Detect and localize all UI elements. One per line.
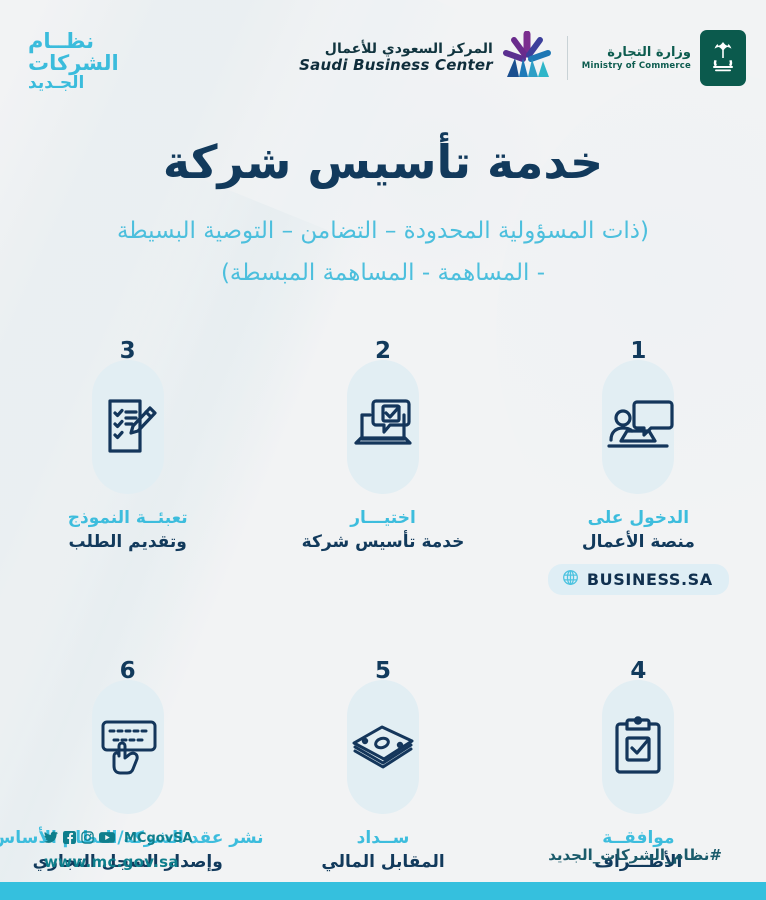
sbc-starburst-icon — [501, 31, 553, 85]
step-label-secondary: خدمة تأسيس شركة — [302, 530, 465, 554]
keyboard-hand-click-icon — [92, 715, 164, 779]
ministry-of-commerce-logo: وزارة التجارة Ministry of Commerce — [582, 30, 746, 86]
step-number: 1 — [630, 338, 646, 364]
step-label-primary: تعبئــة النموذج — [68, 506, 188, 530]
footer-social: MCgovSA www.mc.gov.sa — [44, 828, 193, 872]
step-label: تعبئــة النموذج وتقديم الطلب — [68, 506, 188, 554]
header-logos: المركز السعودي للأعمال Saudi Business Ce… — [299, 30, 746, 86]
steps-row-top: 1 الدخول على منصة الأعمال — [0, 360, 766, 595]
steps-grid: 1 الدخول على منصة الأعمال — [0, 360, 766, 875]
moc-arabic-name: وزارة التجارة — [582, 45, 691, 61]
step-number: 4 — [630, 658, 646, 684]
step-number: 6 — [120, 658, 136, 684]
hashtag: #نظام_الشركات_الجديد — [548, 846, 722, 864]
step-card-2[interactable]: 2 اختيـــار خدمة تأسيس شركة — [265, 360, 501, 554]
title-block: خدمة تأسيس شركة (ذات المسؤولية المحدودة … — [0, 134, 766, 295]
youtube-icon[interactable] — [99, 828, 115, 850]
saudi-emblem-icon — [700, 30, 746, 86]
step-label: الدخول على منصة الأعمال — [582, 506, 695, 554]
sbc-english-name: Saudi Business Center — [299, 57, 493, 74]
sbc-arabic-name: المركز السعودي للأعمال — [299, 41, 493, 57]
step-label-primary: اختيـــار — [302, 506, 465, 530]
instagram-icon[interactable] — [81, 828, 94, 850]
logo-line-1: نظــام — [28, 31, 94, 52]
social-handle: MCgovSA — [124, 830, 193, 848]
footer: MCgovSA www.mc.gov.sa #نظام_الشركات_الجد… — [0, 830, 766, 900]
clipboard-checkbox-icon — [602, 715, 674, 779]
business-sa-text: BUSINESS.SA — [587, 570, 713, 589]
step-label-secondary: وتقديم الطلب — [68, 530, 188, 554]
step-label-secondary: منصة الأعمال — [582, 530, 695, 554]
website-url[interactable]: www.mc.gov.sa — [44, 852, 193, 872]
header-divider — [567, 36, 568, 80]
subtitle-line-2: - المساهمة - المساهمة المبسطة) — [0, 252, 766, 295]
facebook-icon[interactable] — [63, 828, 76, 850]
step-pill: 1 — [602, 360, 674, 494]
step-pill: 3 — [92, 360, 164, 494]
social-links[interactable]: MCgovSA — [44, 828, 193, 850]
moc-english-name: Ministry of Commerce — [582, 61, 691, 71]
infographic-poster: نظــام الشركات الجـديد المركز السعودي لل… — [0, 0, 766, 900]
twitter-icon[interactable] — [44, 828, 58, 850]
bottom-accent-bar — [0, 882, 766, 900]
business-sa-badge[interactable]: BUSINESS.SA — [548, 564, 729, 595]
step-card-1[interactable]: 1 الدخول على منصة الأعمال — [520, 360, 756, 595]
step-number: 5 — [375, 658, 391, 684]
header: نظــام الشركات الجـديد المركز السعودي لل… — [0, 0, 766, 118]
checklist-pencil-icon — [92, 395, 164, 459]
laptop-checkbox-bubble-icon — [347, 395, 419, 459]
step-card-3[interactable]: 3 تعبئــة النموذج — [10, 360, 246, 554]
step-number: 3 — [120, 338, 136, 364]
logo-line-2: الشركات — [28, 53, 119, 74]
step-pill: 5 — [347, 680, 419, 814]
new-companies-law-logo: نظــام الشركات الجـديد — [28, 28, 138, 94]
banknotes-stack-icon — [347, 715, 419, 779]
page-title: خدمة تأسيس شركة — [0, 134, 766, 192]
globe-icon — [562, 569, 579, 590]
step-pill: 2 — [347, 360, 419, 494]
page-subtitle: (ذات المسؤولية المحدودة – التضامن – التو… — [0, 210, 766, 295]
step-pill: 6 — [92, 680, 164, 814]
saudi-business-center-logo: المركز السعودي للأعمال Saudi Business Ce… — [299, 31, 553, 85]
logo-line-3: الجـديد — [28, 75, 84, 92]
step-label-primary: الدخول على — [582, 506, 695, 530]
subtitle-line-1: (ذات المسؤولية المحدودة – التضامن – التو… — [0, 210, 766, 253]
step-label: اختيـــار خدمة تأسيس شركة — [302, 506, 465, 554]
person-laptop-chat-icon — [601, 395, 675, 459]
step-number: 2 — [375, 338, 391, 364]
step-pill: 4 — [602, 680, 674, 814]
